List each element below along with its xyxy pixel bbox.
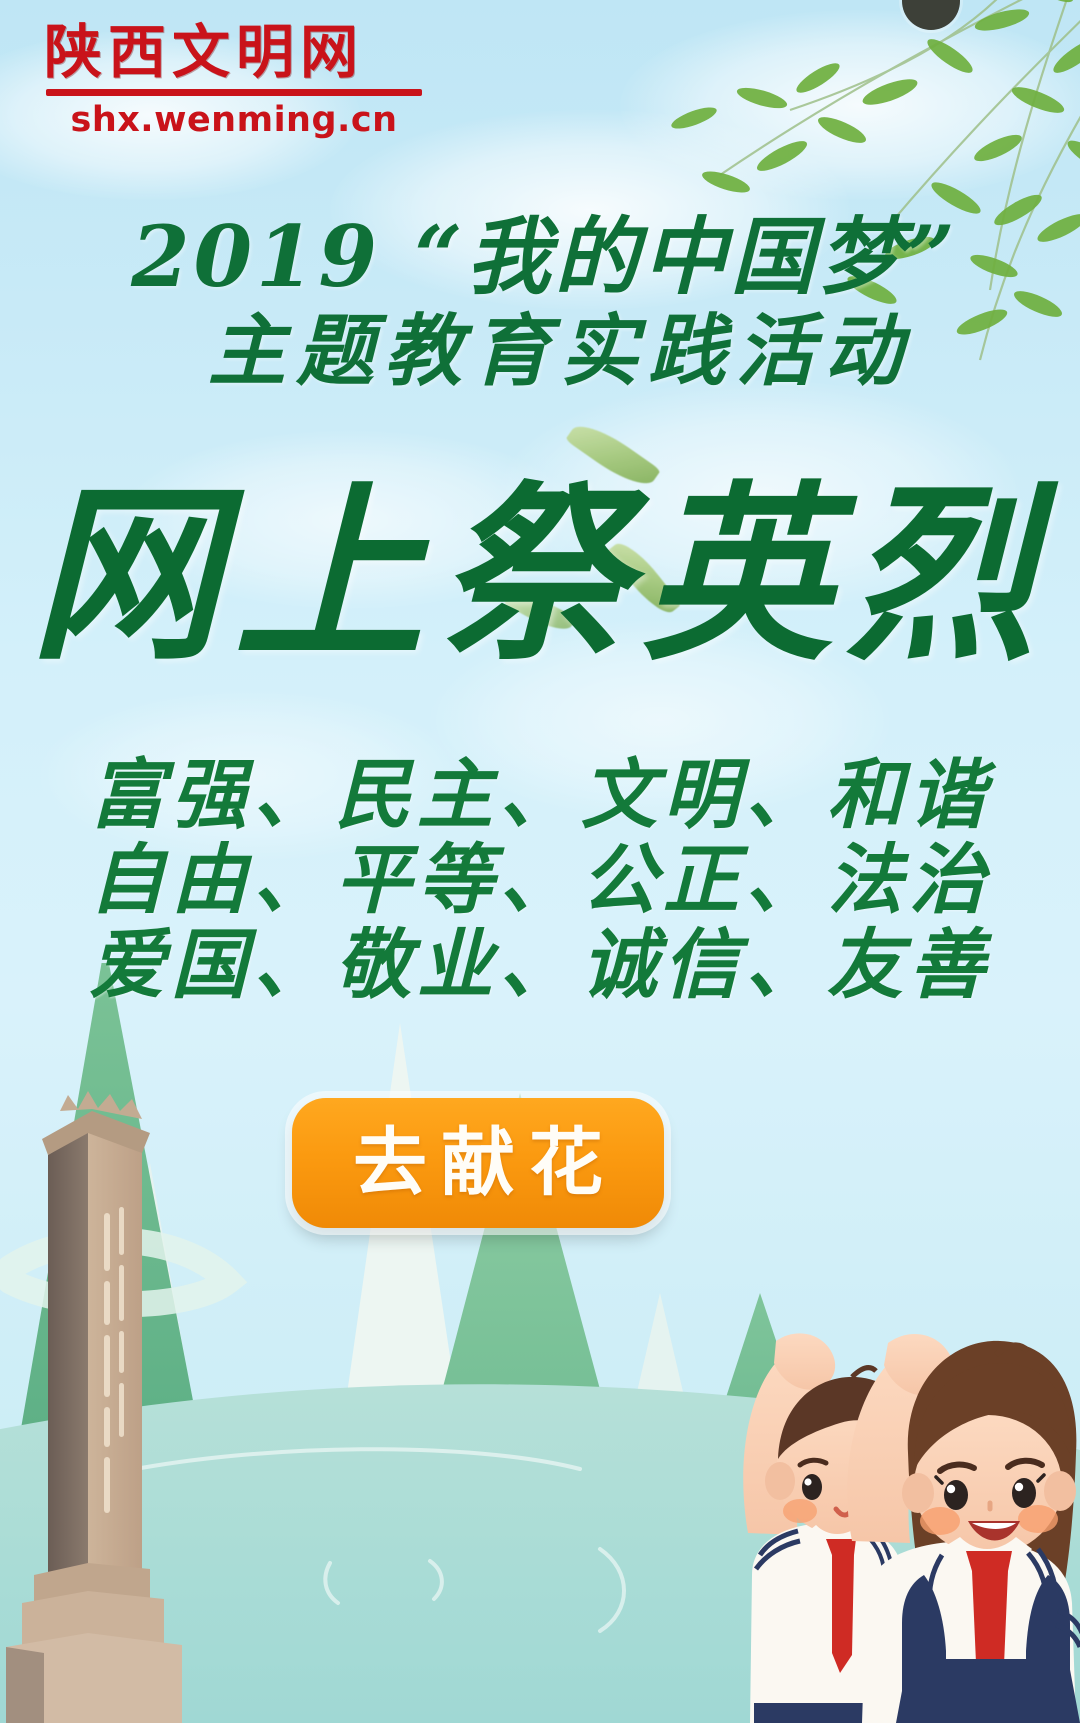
core-values-block: 富强、民主、文明、和谐 自由、平等、公正、法治 爱国、敬业、诚信、友善 (0, 752, 1080, 1007)
core-values-line-1: 富强、民主、文明、和谐 (0, 752, 1080, 837)
core-values-line-3: 爱国、敬业、诚信、友善 (0, 922, 1080, 1007)
dark-circle-decoration (902, 0, 960, 30)
site-logo[interactable]: 陕西文明网 shx.wenming.cn (44, 22, 424, 140)
offer-flower-button[interactable]: 去献花 (292, 1098, 664, 1228)
saluting-students-illustration (656, 1203, 1080, 1723)
poster-root: 陕西文明网 shx.wenming.cn 2019 “我的中国梦” 主题教育实践… (0, 0, 1080, 1723)
site-logo-name: 陕西文明网 (44, 22, 424, 83)
core-values-line-2: 自由、平等、公正、法治 (0, 837, 1080, 922)
logo-divider (46, 89, 422, 96)
campaign-heading: 2019 “我的中国梦” 主题教育实践活动 (0, 215, 1080, 391)
heading-line-1: 2019 “我的中国梦” (0, 215, 1080, 299)
cloud-decoration (620, 10, 1080, 200)
page-title: 网上祭英烈 (0, 480, 1080, 670)
site-logo-url: shx.wenming.cn (44, 100, 424, 140)
heading-line-2: 主题教育实践活动 (0, 313, 1080, 391)
girl-student-saluting (847, 1334, 1080, 1723)
